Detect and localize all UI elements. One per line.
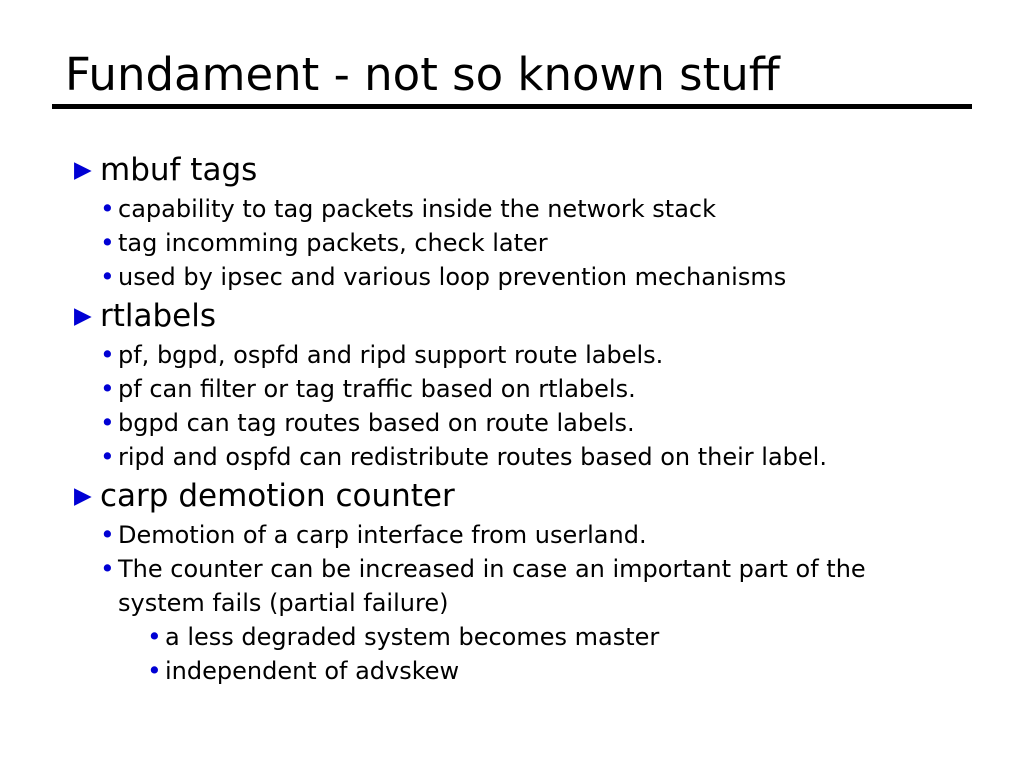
outline-heading-label: rtlabels (100, 296, 216, 336)
outline-heading: ▶mbuf tags (70, 150, 970, 190)
outline-item-level2: •Demotion of a carp interface from userl… (70, 518, 970, 552)
outline-item-label: bgpd can tag routes based on route label… (118, 406, 635, 440)
dot-bullet-icon: • (100, 440, 118, 474)
outline-group: ▶mbuf tags•capability to tag packets ins… (70, 150, 970, 294)
outline-item-level2: •ripd and ospfd can redistribute routes … (70, 440, 970, 474)
outline-heading: ▶rtlabels (70, 296, 970, 336)
outline-item-level3: •a less degraded system becomes master (70, 620, 970, 654)
outline-heading: ▶carp demotion counter (70, 476, 970, 516)
outline-item-level2: •used by ipsec and various loop preventi… (70, 260, 970, 294)
outline-item-level3: •independent of advskew (70, 654, 970, 688)
dot-bullet-icon: • (100, 338, 118, 372)
outline-item-level2: •pf, bgpd, ospfd and ripd support route … (70, 338, 970, 372)
dot-bullet-icon: • (100, 226, 118, 260)
triangle-bullet-icon: ▶ (70, 476, 100, 516)
outline-heading-label: carp demotion counter (100, 476, 455, 516)
dot-bullet-icon: • (147, 620, 165, 654)
outline-item-label: independent of advskew (165, 654, 459, 688)
outline-item-label: pf, bgpd, ospfd and ripd support route l… (118, 338, 663, 372)
outline-item-level2: •bgpd can tag routes based on route labe… (70, 406, 970, 440)
title-underline-rule (52, 104, 972, 109)
slide-canvas: Fundament - not so known stuff ▶mbuf tag… (0, 0, 1024, 768)
outline-heading-label: mbuf tags (100, 150, 257, 190)
outline-item-level2: •The counter can be increased in case an… (70, 552, 970, 620)
outline-item-label: used by ipsec and various loop preventio… (118, 260, 786, 294)
slide-body: ▶mbuf tags•capability to tag packets ins… (70, 150, 970, 688)
slide-title-block: Fundament - not so known stuff (52, 48, 972, 109)
dot-bullet-icon: • (100, 552, 118, 586)
outline-item-level2: •tag incomming packets, check later (70, 226, 970, 260)
page-title: Fundament - not so known stuff (52, 48, 972, 102)
outline-item-label: pf can filter or tag traffic based on rt… (118, 372, 636, 406)
outline-item-label: ripd and ospfd can redistribute routes b… (118, 440, 827, 474)
triangle-bullet-icon: ▶ (70, 150, 100, 190)
outline-item-label: Demotion of a carp interface from userla… (118, 518, 647, 552)
dot-bullet-icon: • (100, 260, 118, 294)
dot-bullet-icon: • (100, 406, 118, 440)
outline-group: ▶rtlabels•pf, bgpd, ospfd and ripd suppo… (70, 296, 970, 474)
outline-item-level2: •pf can filter or tag traffic based on r… (70, 372, 970, 406)
dot-bullet-icon: • (100, 518, 118, 552)
dot-bullet-icon: • (100, 372, 118, 406)
outline-item-label: capability to tag packets inside the net… (118, 192, 716, 226)
outline-item-level2: •capability to tag packets inside the ne… (70, 192, 970, 226)
dot-bullet-icon: • (100, 192, 118, 226)
outline-item-label: tag incomming packets, check later (118, 226, 548, 260)
outline-item-label: The counter can be increased in case an … (118, 552, 888, 620)
dot-bullet-icon: • (147, 654, 165, 688)
triangle-bullet-icon: ▶ (70, 296, 100, 336)
outline-group: ▶carp demotion counter•Demotion of a car… (70, 476, 970, 688)
outline-item-label: a less degraded system becomes master (165, 620, 659, 654)
